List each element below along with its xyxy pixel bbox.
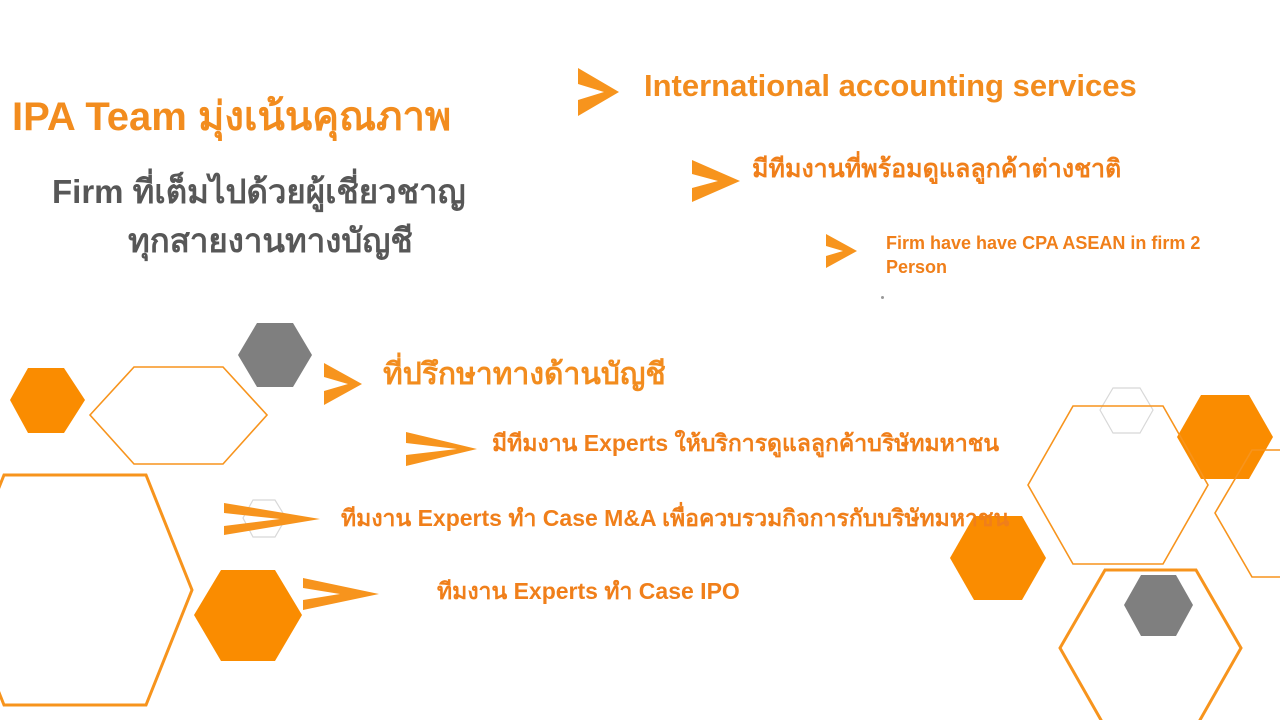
international-bullet-2: Firm have have CPA ASEAN in firm 2 Perso… (886, 231, 1236, 280)
subtitle-line-1: Firm ที่เต็มไปด้วยผู้เชี่ยวชาญ (52, 173, 466, 211)
chevron-right-icon (692, 160, 740, 202)
chevron-right-icon (303, 578, 379, 610)
hexagon-solid-shape (238, 323, 312, 387)
hexagon-outline-shape (1215, 450, 1280, 577)
hexagon-solid-shape (10, 368, 85, 433)
hexagon-outline-shape (1028, 406, 1208, 564)
hexagon-solid-shape (1177, 395, 1273, 479)
chevron-right-icon (406, 432, 477, 466)
consulting-bullet-1: มีทีมงาน Experts ให้บริการดูแลลูกค้าบริษ… (492, 430, 999, 456)
consulting-bullet-2: ทีมงาน Experts ทำ Case M&A เพื่อควบรวมกิ… (341, 505, 1009, 531)
hexagon-outline-shape (243, 500, 286, 537)
chevron-right-icon (224, 503, 320, 535)
consulting-bullet-3: ทีมงาน Experts ทำ Case IPO (437, 578, 740, 604)
hexagon-outline-shape (90, 367, 267, 464)
chevron-right-icon (826, 234, 857, 268)
hexagon-solid-shape (1124, 575, 1193, 636)
hexagon-outline-shape (1060, 570, 1241, 720)
hexagon-outline-shape (0, 475, 192, 705)
international-heading: International accounting services (644, 68, 1137, 104)
page-title: IPA Team มุ่งเน้นคุณภาพ (12, 94, 451, 140)
subtitle-line-2: ทุกสายงานทางบัญชี (128, 222, 413, 260)
slide-canvas: IPA Team มุ่งเน้นคุณภาพ Firm ที่เต็มไปด้… (0, 0, 1280, 720)
chevron-right-icon (324, 363, 362, 405)
chevron-right-icon (578, 68, 619, 116)
hexagon-outline-shape (1100, 388, 1153, 433)
international-bullet-1: มีทีมงานที่พร้อมดูแลลูกค้าต่างชาติ (752, 155, 1121, 184)
hexagon-solid-shape (194, 570, 302, 661)
consulting-heading: ที่ปรึกษาทางด้านบัญชี (383, 358, 666, 393)
stray-dot (881, 296, 884, 299)
